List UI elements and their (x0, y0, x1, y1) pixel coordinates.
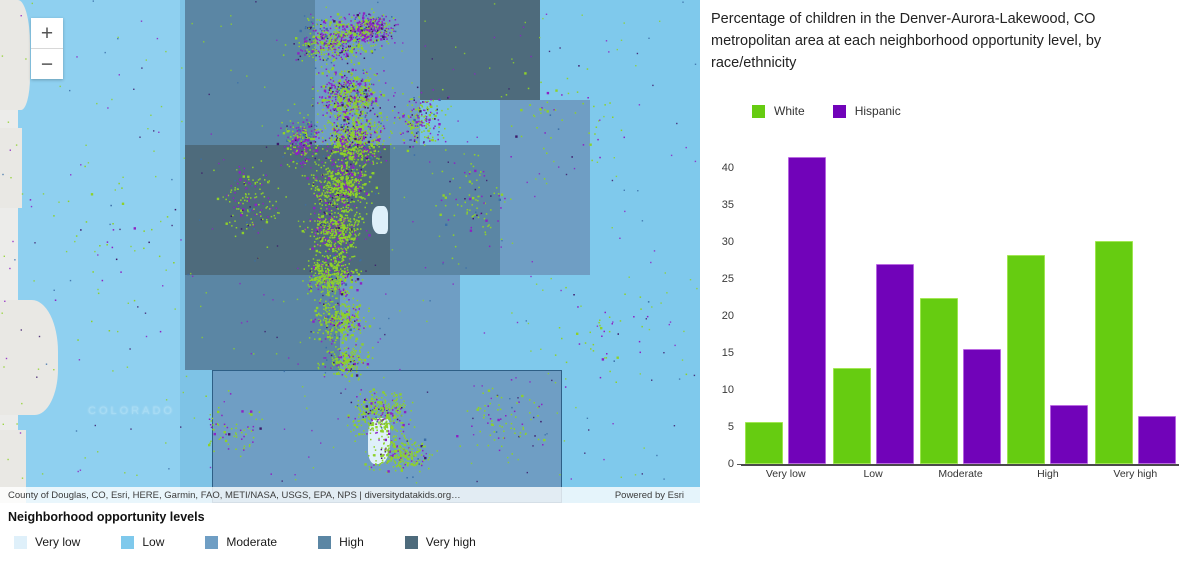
chart-bar[interactable] (833, 368, 871, 464)
map-polygon-moderate[interactable] (500, 100, 590, 275)
map-terrain-patch (0, 0, 30, 110)
map-legend-item[interactable]: Very high (405, 535, 476, 549)
chart-bar[interactable] (876, 264, 914, 464)
zoom-in-icon[interactable]: + (31, 18, 63, 48)
map-legend: Neighborhood opportunity levels Very low… (0, 506, 700, 549)
chart-bars (700, 0, 1183, 464)
chart-bar[interactable] (963, 349, 1001, 464)
map-legend-swatch (205, 536, 218, 549)
map-panel: COLORADO + − County of Douglas, CO, Esri… (0, 0, 700, 565)
chart-bar[interactable] (788, 157, 826, 464)
chart-panel: Percentage of children in the Denver-Aur… (700, 0, 1183, 565)
map-polygon-moderate[interactable] (340, 275, 460, 370)
map-canvas[interactable]: COLORADO + − County of Douglas, CO, Esri… (0, 0, 700, 503)
map-legend-swatch (405, 536, 418, 549)
map-polygon-low[interactable] (460, 275, 700, 370)
zoom-out-icon[interactable]: − (31, 48, 63, 79)
map-polygon-high[interactable] (185, 275, 340, 370)
map-attribution: County of Douglas, CO, Esri, HERE, Garmi… (0, 487, 700, 503)
map-polygon-very-low[interactable] (372, 206, 388, 234)
map-legend-items: Very lowLowModerateHighVery high (0, 524, 700, 549)
map-legend-label: Very high (426, 535, 476, 549)
chart-plot-area: 0510152025303540 Very lowLowModerateHigh… (700, 0, 1183, 490)
map-polygon-high[interactable] (390, 145, 500, 275)
map-legend-swatch (318, 536, 331, 549)
chart-bar[interactable] (745, 422, 783, 464)
map-polygon-very-high[interactable] (185, 145, 390, 275)
map-polygon-low[interactable] (562, 370, 700, 503)
map-legend-item[interactable]: Very low (14, 535, 80, 549)
chart-bar[interactable] (1007, 255, 1045, 464)
chart-bar[interactable] (920, 298, 958, 464)
chart-x-tick-label: High (1037, 468, 1059, 480)
app-root: COLORADO + − County of Douglas, CO, Esri… (0, 0, 1183, 565)
map-polygon-high[interactable] (185, 0, 315, 145)
chart-x-axis-line (741, 464, 1179, 466)
map-legend-title: Neighborhood opportunity levels (0, 506, 700, 524)
map-legend-item[interactable]: Moderate (205, 535, 277, 549)
chart-x-tick-label: Very low (766, 468, 806, 480)
map-legend-label: Moderate (226, 535, 277, 549)
chart-bar[interactable] (1138, 416, 1176, 464)
map-polygon-moderate[interactable] (315, 60, 420, 145)
map-polygon-very-low[interactable] (368, 418, 390, 464)
attribution-sources: County of Douglas, CO, Esri, HERE, Garmi… (8, 490, 461, 501)
map-zoom-control[interactable]: + − (31, 18, 63, 79)
map-legend-item[interactable]: Low (121, 535, 164, 549)
chart-x-tick-label: Moderate (938, 468, 982, 480)
map-polygon-very-high[interactable] (420, 0, 540, 100)
map-legend-swatch (121, 536, 134, 549)
map-legend-label: Low (142, 535, 164, 549)
map-terrain-patch (0, 128, 22, 208)
chart-bar[interactable] (1050, 405, 1088, 464)
map-polygon-moderate[interactable] (315, 0, 420, 60)
chart-x-tick-label: Very high (1113, 468, 1157, 480)
map-legend-label: High (339, 535, 364, 549)
chart-bar[interactable] (1095, 241, 1133, 464)
attribution-powered-by: Powered by Esri (615, 490, 692, 501)
map-legend-label: Very low (35, 535, 80, 549)
map-terrain-patch (0, 300, 58, 415)
map-state-label: COLORADO (88, 405, 175, 417)
map-legend-swatch (14, 536, 27, 549)
map-polygon-low[interactable] (590, 160, 700, 275)
chart-x-tick-label: Low (863, 468, 882, 480)
map-legend-item[interactable]: High (318, 535, 364, 549)
